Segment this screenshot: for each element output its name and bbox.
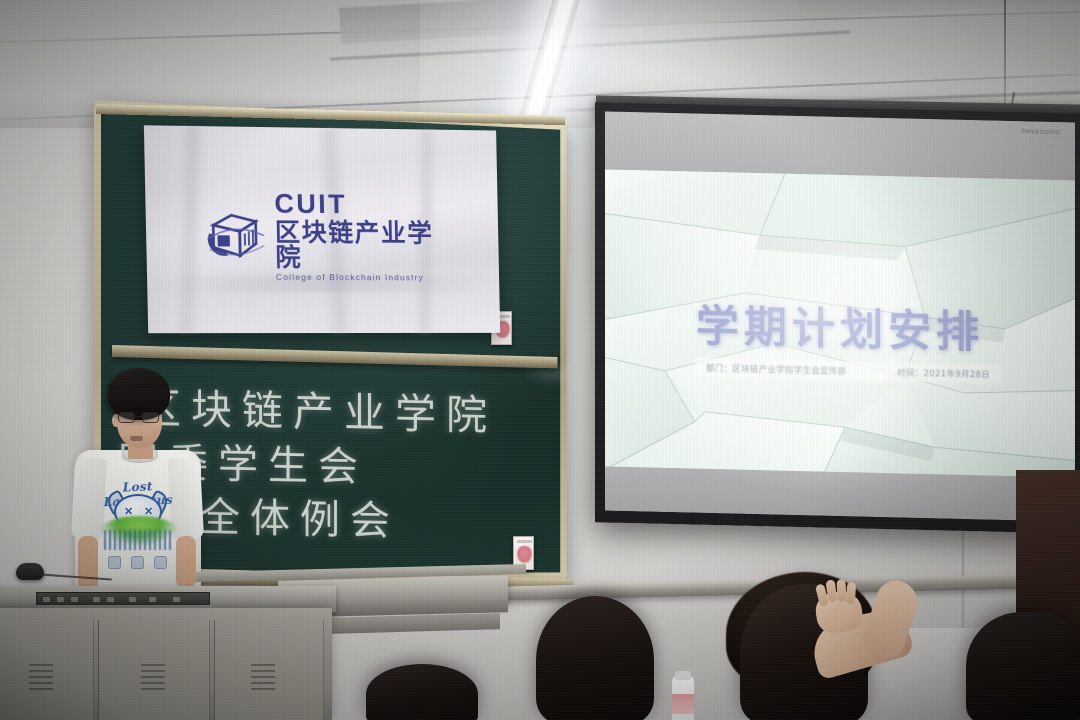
panel-button[interactable]: [149, 597, 156, 602]
speaker-mouth: [130, 436, 143, 441]
banner-name-cn: 区块链产业学院: [275, 219, 453, 270]
lectern-door-middle[interactable]: [98, 620, 210, 720]
audience-head-left: [536, 596, 654, 720]
classroom-photo-scene: 区块链产业学院 团委学生会 次全体例会: [0, 0, 1080, 720]
bottle-cap: [675, 671, 691, 680]
slide-time-label: 时间：: [897, 367, 923, 378]
tshirt-badge: [108, 556, 121, 569]
panel-button[interactable]: [173, 597, 180, 602]
panel-button[interactable]: [107, 597, 114, 602]
slide-dept-value: 区块链产业学院学生会宣传部: [732, 363, 846, 376]
lectern-door-right[interactable]: [214, 620, 324, 720]
panel-button[interactable]: [57, 597, 64, 602]
banner-text-block: CUIT 区块链产业学院 College of Blockchain Indus…: [274, 190, 453, 281]
banner-fold: [173, 125, 206, 333]
panel-button[interactable]: [93, 597, 100, 602]
projector-screen-surface: PANASONIC: [605, 111, 1075, 521]
cube-chain-logo-icon: [203, 205, 267, 266]
slide-time-value: 2021年9月28日: [924, 367, 990, 379]
tshirt-badge: [154, 556, 167, 569]
speaker-hair-fringe: [108, 386, 168, 408]
glasses-lens-right: [142, 412, 159, 423]
panel-button[interactable]: [129, 597, 136, 602]
banner-name-en: College of Blockchain Industry: [276, 273, 454, 282]
lectern-body: [0, 608, 332, 720]
audience-head-back-left: [366, 664, 478, 720]
av-control-panel[interactable]: [36, 592, 210, 605]
glasses-icon: [118, 412, 161, 423]
banner-logo-lockup: CUIT 区块链产业学院 College of Blockchain Indus…: [203, 199, 454, 273]
glasses-bridge: [135, 416, 142, 417]
slide-title: 学期计划安排: [605, 289, 1075, 362]
glasses-lens-left: [118, 412, 135, 423]
slide-dept-label: 部门：: [706, 362, 732, 373]
projector-screen-frame: PANASONIC: [595, 102, 1080, 534]
lectern-door-left[interactable]: [0, 620, 94, 720]
audience-head-right: [966, 612, 1080, 720]
slide-dept-group: 部门：区块链产业学院学生会宣传部: [706, 361, 846, 376]
department-banner: CUIT 区块链产业学院 College of Blockchain Indus…: [144, 125, 500, 333]
panel-button[interactable]: [43, 597, 50, 602]
screen-brand-tag: PANASONIC: [1022, 129, 1061, 136]
banner-brand: CUIT: [274, 190, 452, 219]
presentation-slide: 学期计划安排 部门：区块链产业学院学生会宣传部 时间：2021年9月28日: [605, 169, 1075, 498]
hanging-wire: [1004, 0, 1006, 120]
slide-time-group: 时间：2021年9月28日: [897, 366, 990, 380]
panel-button[interactable]: [71, 597, 78, 602]
bottle-label: [672, 694, 694, 714]
speaker-arm-left: [78, 536, 98, 592]
tshirt-fringe-graphic: [104, 530, 174, 550]
computer-mouse-icon[interactable]: [16, 563, 44, 580]
tshirt-badge: [131, 556, 144, 569]
speaker-arm-right: [176, 536, 196, 588]
